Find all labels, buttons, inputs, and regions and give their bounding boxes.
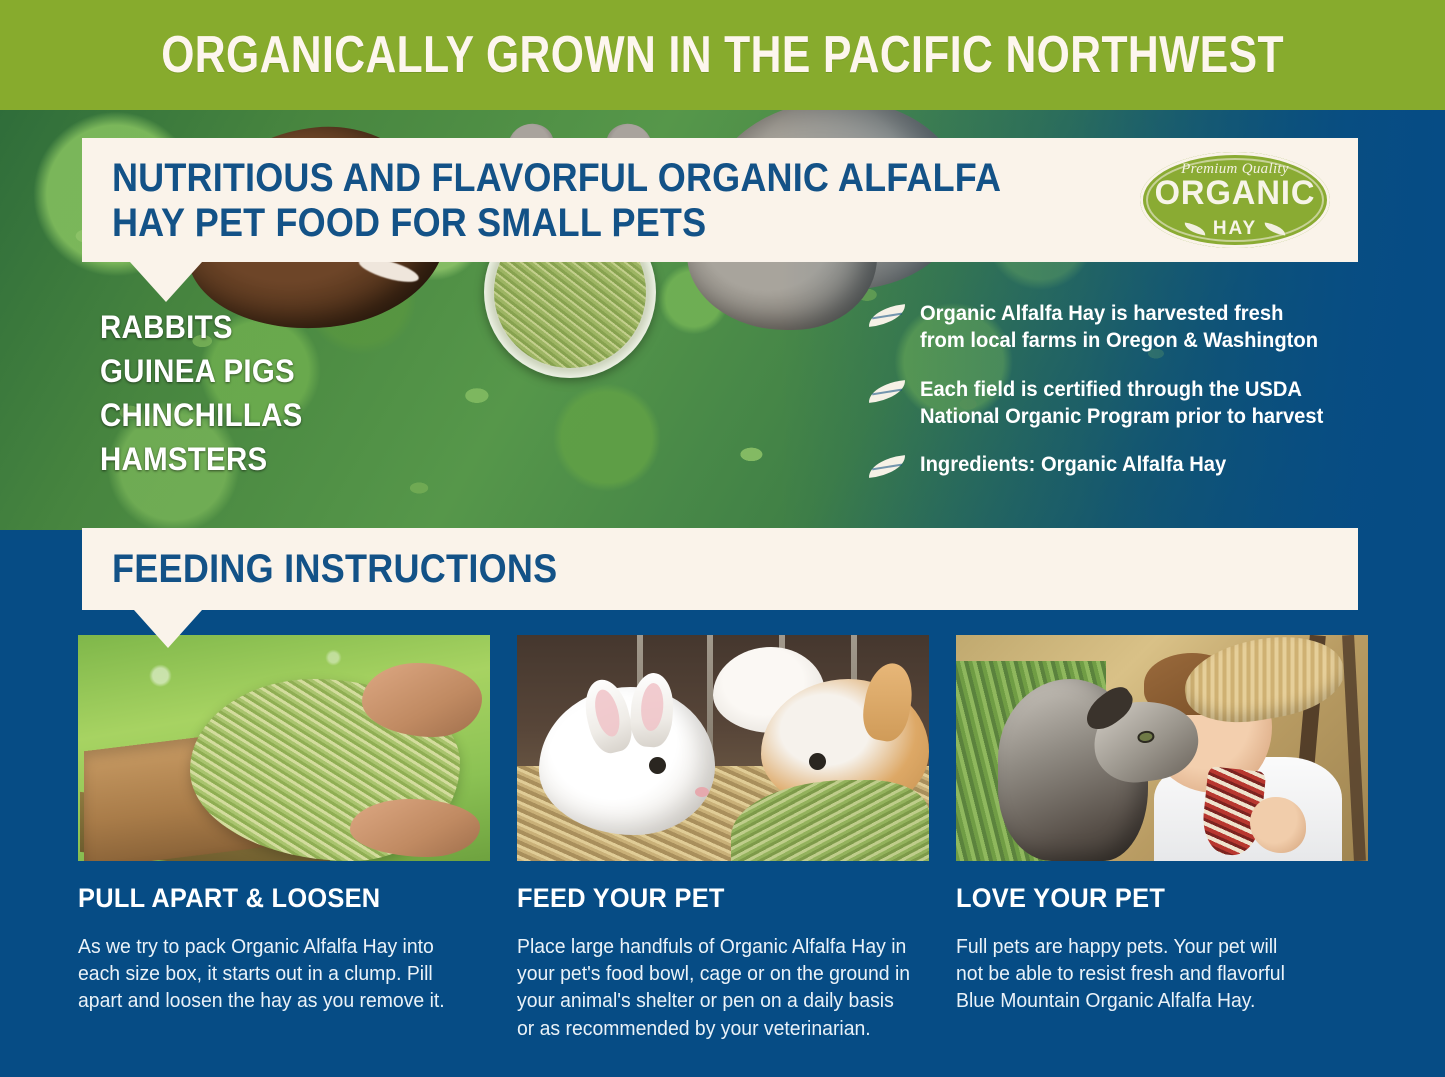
feature-item-certification: Each field is certified through the USDA… <box>868 376 1368 431</box>
banner-headline: ORGANICALLY GROWN IN THE PACIFIC NORTHWE… <box>161 29 1284 81</box>
step-love-your-pet: LOVE YOUR PET Full pets are happy pets. … <box>956 635 1368 1043</box>
badge-organic-text: ORGANIC <box>1144 176 1326 210</box>
page-title: NUTRITIOUS AND FLAVORFUL ORGANIC ALFALFA… <box>112 156 1210 246</box>
title-panel-tail <box>130 262 202 302</box>
baby-goat-eye <box>1137 730 1156 744</box>
feature-item-harvest: Organic Alfalfa Hay is harvested fresh f… <box>868 300 1368 355</box>
rabbit-orange-eye <box>809 753 826 770</box>
step-body-love-your-pet: Full pets are happy pets. Your pet will … <box>956 934 1356 1016</box>
step-photo-baby-rabbits <box>517 635 929 861</box>
rabbit-ear-inner <box>591 687 624 739</box>
organic-hay-badge: Premium Quality ORGANIC HAY <box>1140 152 1330 248</box>
pet-type-chinchillas: CHINCHILLAS <box>100 393 303 437</box>
pet-type-hamsters: HAMSTERS <box>100 437 303 481</box>
feeding-instructions-panel: FEEDING INSTRUCTIONS <box>82 528 1358 610</box>
pet-type-rabbits: RABBITS <box>100 305 303 349</box>
step-title-feed-your-pet: FEED YOUR PET <box>517 883 904 914</box>
product-infographic: ORGANICALLY GROWN IN THE PACIFIC NORTHWE… <box>0 0 1445 1077</box>
pet-type-guinea-pigs: GUINEA PIGS <box>100 349 303 393</box>
badge-oval-stamp: Premium Quality ORGANIC HAY <box>1140 152 1330 248</box>
feeding-steps-row: PULL APART & LOOSEN As we try to pack Or… <box>78 635 1368 1043</box>
feature-text-certification: Each field is certified through the USDA… <box>920 376 1323 431</box>
pet-types-list: RABBITS GUINEA PIGS CHINCHILLAS HAMSTERS <box>100 305 320 482</box>
rabbit-white-nose <box>695 787 709 797</box>
leaf-bullet-icon <box>868 382 906 402</box>
feature-text-harvest: Organic Alfalfa Hay is harvested fresh f… <box>920 300 1318 355</box>
leaf-bullet-icon <box>868 457 906 477</box>
step-title-pull-apart: PULL APART & LOOSEN <box>78 883 465 914</box>
step-photo-hands-holding-hay <box>78 635 490 861</box>
step-photo-boy-with-goat <box>956 635 1368 861</box>
step-pull-apart-and-loosen: PULL APART & LOOSEN As we try to pack Or… <box>78 635 490 1043</box>
feature-item-ingredients: Ingredients: Organic Alfalfa Hay <box>868 451 1368 478</box>
rabbit-white-eye <box>649 757 666 774</box>
rabbit-ear-inner <box>640 682 665 731</box>
step-body-pull-apart: As we try to pack Organic Alfalfa Hay in… <box>78 934 478 1016</box>
feature-bullet-list: Organic Alfalfa Hay is harvested fresh f… <box>868 300 1368 499</box>
step-feed-your-pet: FEED YOUR PET Place large handfuls of Or… <box>517 635 929 1043</box>
feeding-instructions-heading: FEEDING INSTRUCTIONS <box>112 547 557 592</box>
step-body-feed-your-pet: Place large handfuls of Organic Alfalfa … <box>517 934 917 1043</box>
feature-text-ingredients: Ingredients: Organic Alfalfa Hay <box>920 451 1226 478</box>
baby-goat-body <box>998 679 1148 861</box>
step-title-love-your-pet: LOVE YOUR PET <box>956 883 1343 914</box>
leaf-bullet-icon <box>868 306 906 326</box>
top-banner: ORGANICALLY GROWN IN THE PACIFIC NORTHWE… <box>0 0 1445 110</box>
title-panel: NUTRITIOUS AND FLAVORFUL ORGANIC ALFALFA… <box>82 138 1358 262</box>
badge-hay-text: HAY <box>1140 219 1330 238</box>
feeding-panel-tail <box>134 610 202 648</box>
